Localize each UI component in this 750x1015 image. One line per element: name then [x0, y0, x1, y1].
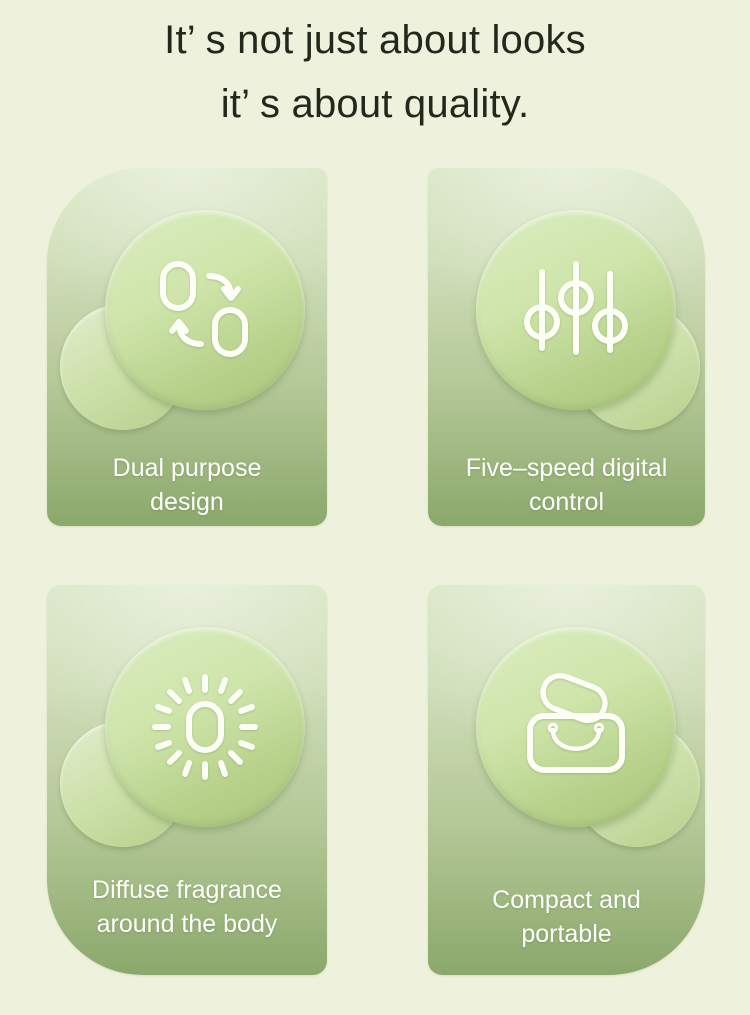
feature-card-dual-purpose-design[interactable]: Dual purpose design	[47, 168, 327, 526]
caption-line-1: Compact and	[436, 883, 697, 917]
feature-card-diffuse-fragrance[interactable]: Diffuse fragrance around the body	[47, 585, 327, 975]
feature-card-compact-and-portable[interactable]: Compact and portable	[428, 585, 705, 975]
feature-card-caption: Compact and portable	[428, 883, 705, 951]
page-title-line-2: it’ s about quality.	[0, 72, 750, 136]
caption-line-1: Dual purpose	[55, 451, 319, 485]
page-title: It’ s not just about looks it’ s about q…	[0, 8, 750, 136]
dual-purpose-swap-icon	[149, 254, 261, 366]
feature-grid-page: It’ s not just about looks it’ s about q…	[0, 0, 750, 1015]
feature-card-caption: Five–speed digital control	[428, 451, 705, 519]
caption-line-2: design	[55, 485, 319, 519]
slider-controls-icon	[520, 254, 632, 366]
diffuse-radiate-icon	[149, 671, 261, 783]
caption-line-2: portable	[436, 917, 697, 951]
handbag-pouch-icon	[520, 671, 632, 783]
caption-line-1: Diffuse fragrance	[55, 873, 319, 907]
feature-card-caption: Diffuse fragrance around the body	[47, 873, 327, 941]
feature-card-five-speed-digital-control[interactable]: Five–speed digital control	[428, 168, 705, 526]
caption-line-1: Five–speed digital	[436, 451, 697, 485]
feature-card-grid: Dual purpose design	[0, 168, 750, 988]
feature-card-caption: Dual purpose design	[47, 451, 327, 519]
page-title-line-1: It’ s not just about looks	[0, 8, 750, 72]
caption-line-2: control	[436, 485, 697, 519]
caption-line-2: around the body	[55, 907, 319, 941]
